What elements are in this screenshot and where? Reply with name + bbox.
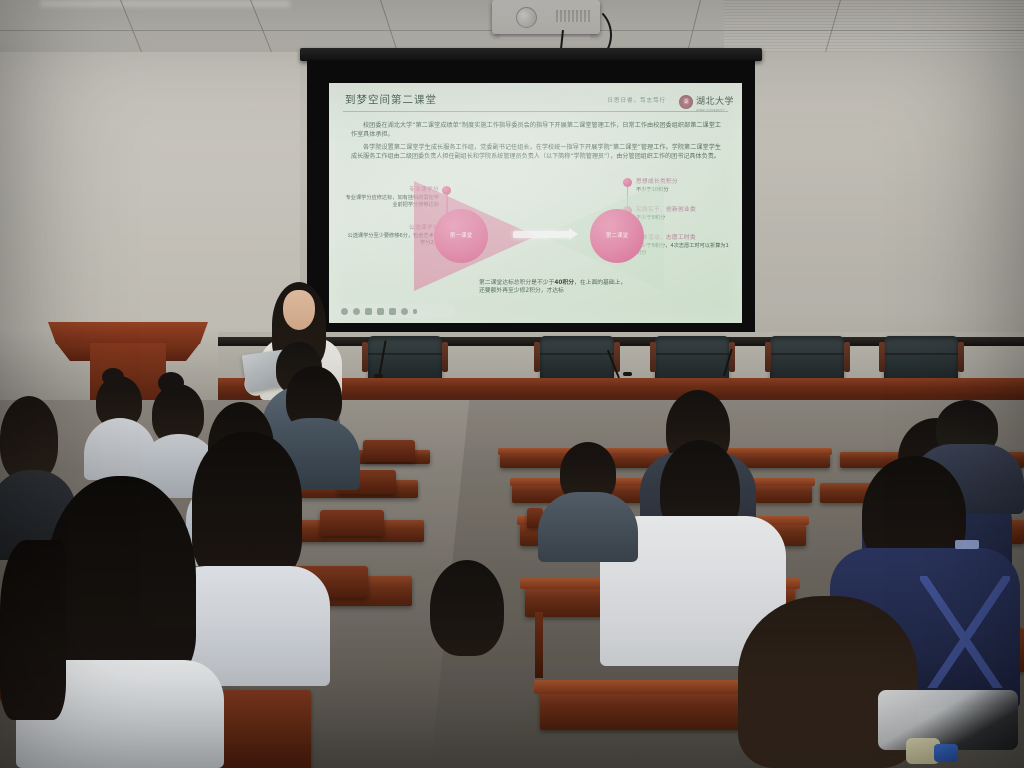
wooden-podium — [48, 322, 208, 344]
shirt-collar-tag — [955, 540, 979, 549]
pen-icon[interactable] — [341, 308, 348, 315]
dais-chair-arm — [362, 342, 368, 372]
dais-chair-arm — [650, 342, 656, 372]
audience-chair — [320, 510, 384, 536]
ceiling-vent-grille — [724, 0, 1024, 52]
next-slide-icon[interactable] — [413, 309, 417, 314]
presenter-face — [283, 290, 315, 330]
dais-chair — [540, 336, 614, 382]
audience-chair — [215, 690, 311, 768]
note-bold: 40积分 — [554, 280, 574, 286]
bag-on-desk — [878, 690, 1018, 750]
audience-torso — [538, 492, 638, 562]
slide-paragraph-2: 各学院设置第二课堂学生成长服务工作组，党委副书记任组长，在学校统一指导下开展学院… — [351, 143, 721, 162]
dais-chair-arm — [534, 342, 540, 372]
bowtie-diagram: 第一课堂 第二课堂 — [414, 181, 664, 291]
slide-grid-icon[interactable] — [377, 308, 384, 315]
dais-chair-arm — [442, 342, 448, 372]
options-icon[interactable] — [401, 308, 408, 315]
pointer-icon[interactable] — [353, 308, 360, 315]
dais-chair-arm — [958, 342, 964, 372]
presentation-toolbar[interactable] — [335, 304, 455, 318]
audience-hair — [430, 560, 504, 656]
microphone-base — [623, 372, 632, 376]
shirt-logo-icon — [920, 576, 1010, 688]
arrow-right-icon — [513, 231, 571, 238]
audience-hair — [0, 540, 66, 720]
highlighter-icon[interactable] — [365, 308, 372, 315]
slide-subtitle: 日思日睿，笃志笃行 — [607, 96, 666, 104]
dais-chair-arm — [879, 342, 885, 372]
audience-hair — [46, 476, 196, 686]
blue-object — [934, 744, 958, 762]
lecture-hall-photo: 到梦空间第二课堂 日思日睿，笃志笃行 湖 湖北大学 HUBEI UNIVERSI… — [0, 0, 1024, 768]
audience-hair-bun — [158, 372, 184, 394]
desk-leg — [535, 612, 543, 678]
university-logo: 湖 湖北大学 HUBEI UNIVERSITY — [679, 91, 734, 112]
dais-chair-arm — [765, 342, 771, 372]
dais-chair — [884, 336, 958, 382]
diagram-node-first-classroom: 第一课堂 — [434, 209, 488, 263]
diagram-node-second-classroom: 第二课堂 — [590, 209, 644, 263]
slide-title-rule — [343, 111, 728, 112]
slide-paragraph-1: 校团委在湖北大学“第二课堂成绩单”制度实施工作指导委员会的指导下开展第二课堂管理… — [351, 121, 721, 140]
audience-chair — [363, 440, 415, 462]
slide-title: 到梦空间第二课堂 — [345, 92, 437, 107]
dais-chair — [770, 336, 844, 382]
university-name: 湖北大学 — [696, 97, 734, 107]
blackboard-icon[interactable] — [389, 308, 396, 315]
dais-chair — [655, 336, 729, 382]
note-prefix: 第二课堂达标总积分是不少于 — [479, 280, 554, 286]
projected-slide: 到梦空间第二课堂 日思日睿，笃志笃行 湖 湖北大学 HUBEI UNIVERSI… — [329, 83, 742, 323]
slide-note: 第二课堂达标总积分是不少于40积分，在上面的基础上，还要额外再至少修2积分，才达… — [479, 279, 629, 296]
audience-hair — [192, 432, 302, 582]
dais-chair-arm — [844, 342, 850, 372]
university-seal-icon: 湖 — [679, 95, 693, 109]
audience-hair-bun — [102, 368, 124, 386]
